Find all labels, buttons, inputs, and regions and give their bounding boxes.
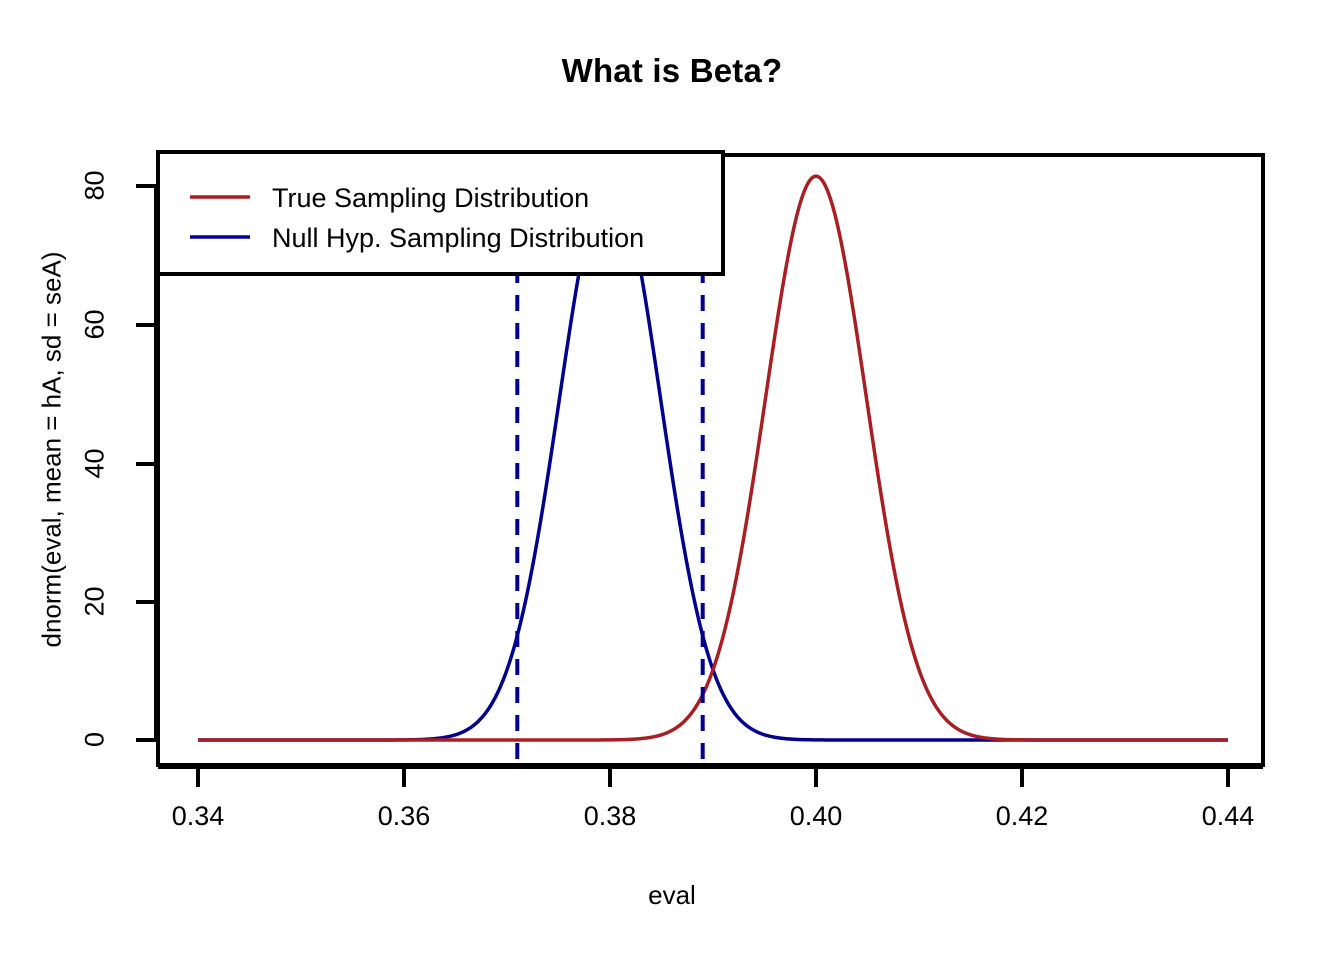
x-tick-label-3: 0.40 [756, 801, 876, 832]
y-tick-label-0: 0 [80, 695, 111, 785]
y-tick-label-1: 20 [80, 557, 111, 647]
legend-label-null: Null Hyp. Sampling Distribution [272, 223, 644, 254]
x-tick-label-1: 0.36 [344, 801, 464, 832]
legend-label-true: True Sampling Distribution [272, 183, 589, 214]
x-tick-label-0: 0.34 [138, 801, 258, 832]
x-tick-label-4: 0.42 [962, 801, 1082, 832]
y-tick-label-3: 60 [80, 280, 111, 370]
x-tick-label-5: 0.44 [1168, 801, 1288, 832]
plot-canvas: What is Beta? dnorm(eval, mean = hA, sd … [0, 0, 1344, 960]
y-axis [136, 186, 156, 740]
x-tick-label-2: 0.38 [550, 801, 670, 832]
y-tick-label-2: 40 [80, 419, 111, 509]
y-tick-label-4: 80 [80, 141, 111, 231]
x-axis [158, 767, 1263, 787]
